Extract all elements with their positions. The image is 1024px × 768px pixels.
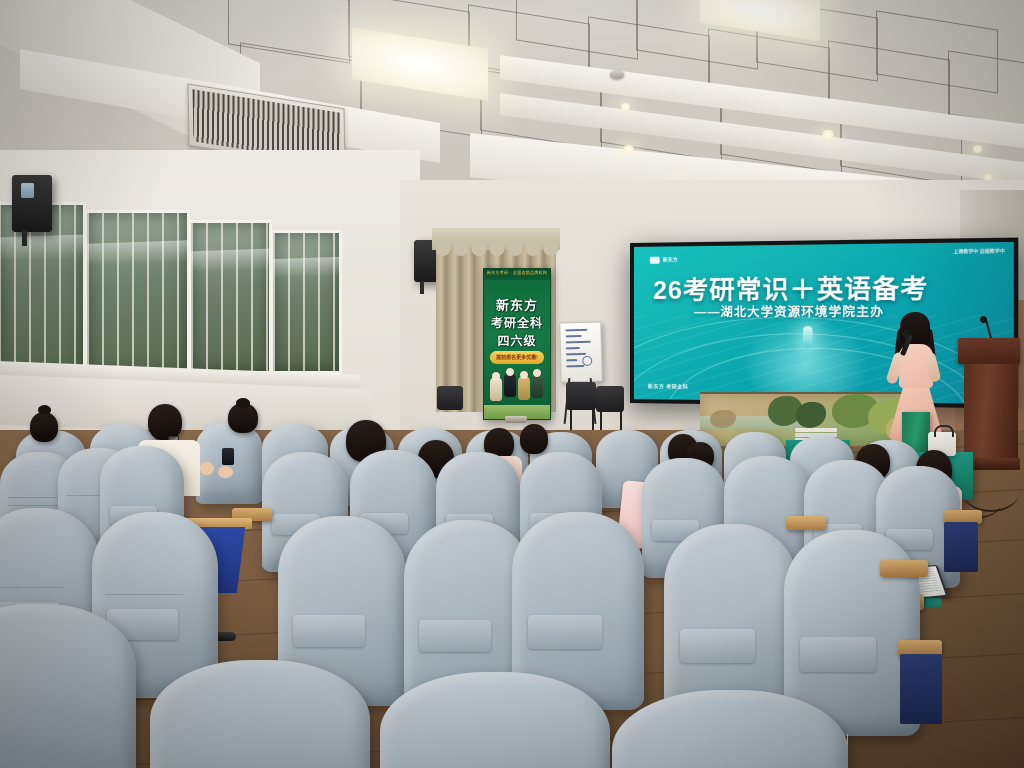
seat-backrest [612, 690, 848, 768]
screen-watermark-top-right: 上课教学中 远程教学中 [953, 248, 1004, 255]
seat-armrest [880, 560, 928, 577]
seat-pocket [528, 615, 602, 649]
window-reflection [273, 257, 339, 279]
window-reflection [87, 240, 187, 266]
seat-pocket [419, 620, 491, 653]
screen-line-pattern [634, 315, 1014, 404]
wall-speaker-left [12, 175, 52, 232]
seat-side-panel [900, 654, 942, 724]
audience-hand-2 [218, 466, 233, 478]
speaker-mount-bracket [22, 230, 27, 246]
black-chair-leg [600, 411, 602, 431]
black-chair-leg [620, 411, 622, 431]
screen-figure-graphic [803, 326, 812, 349]
banner-header-text: 新东方考研 · 全国连锁品牌机构 [484, 270, 550, 276]
audience-head-7 [520, 424, 548, 454]
audience-hair-bun [38, 405, 51, 415]
seat-crease [8, 497, 58, 498]
speaker-mount-bracket-2 [420, 281, 424, 294]
window-security-bars [273, 233, 339, 371]
handbag-handle [934, 425, 954, 437]
ceiling-smoke-detector [610, 70, 624, 79]
window-reflection [0, 234, 83, 261]
window-pane-4 [270, 230, 342, 374]
screen-logo-mark [650, 257, 660, 264]
audience-hair-bun-2 [236, 398, 250, 408]
audience-head-1 [30, 412, 58, 442]
seat-r4-c3[interactable] [380, 672, 610, 768]
seat-side-panel [944, 522, 978, 572]
seat-r4-c2[interactable] [150, 660, 370, 768]
banner-mascot-figures [488, 369, 546, 403]
screen-logo: 新东方 [650, 256, 678, 263]
banner-line-1: 新东方 [484, 295, 550, 314]
seat-r4-c4[interactable] [612, 690, 848, 768]
flipchart-whiteboard [559, 321, 603, 382]
black-chair-1 [566, 382, 596, 410]
seat-backrest [380, 672, 610, 768]
downlight-5 [621, 145, 636, 154]
banner-stand [505, 416, 527, 423]
screen-watermark-bottom-left: 新东方 考研全科 [648, 383, 688, 390]
black-chair-leg [592, 409, 594, 431]
window-reflection [191, 248, 269, 271]
screen-logo-text: 新东方 [663, 256, 678, 263]
projection-screen[interactable]: 新东方 上课教学中 远程教学中 26考研常识＋英语备考 ——湖北大学资源环境学院… [634, 242, 1014, 404]
seat-crease [105, 594, 183, 595]
window-security-bars [87, 213, 187, 373]
podium-body [964, 364, 1018, 460]
downlight-7 [619, 103, 632, 111]
window-pane-3 [188, 220, 272, 374]
black-chair-3 [437, 386, 463, 410]
banner-line-3: 四六级 [484, 332, 550, 349]
speaker-badge [21, 183, 35, 198]
seat-crease [8, 505, 58, 506]
gooseneck-mic-head [980, 316, 987, 323]
audience-hand [200, 462, 214, 475]
banner-line-2: 考研全科 [484, 314, 550, 331]
rollup-banner: 新东方考研 · 全国连锁品牌机构 新东方 考研全科 四六级 提前报名更多优惠! [483, 268, 551, 420]
audience-phone [222, 448, 234, 465]
seat-pocket [680, 629, 755, 663]
seat-crease [0, 587, 65, 588]
curtain-valance [432, 228, 560, 250]
seat-backrest [150, 660, 370, 768]
black-chair-2 [596, 386, 624, 412]
seat-pocket [800, 637, 876, 672]
audience-head-2 [148, 404, 182, 440]
downlight-10 [971, 145, 984, 153]
black-chair-leg [570, 409, 572, 431]
window-bank [0, 196, 352, 371]
downlight-6 [820, 130, 836, 139]
seat-pocket [293, 615, 365, 647]
seat-backrest [0, 604, 136, 768]
podium-top [958, 338, 1020, 364]
microphone-head [902, 330, 910, 338]
window-security-bars [191, 223, 269, 371]
banner-promo-badge: 提前报名更多优惠! [490, 351, 544, 364]
lecture-hall-photo: 新东方考研 · 全国连锁品牌机构 新东方 考研全科 四六级 提前报名更多优惠! [0, 0, 1024, 768]
window-pane-2 [84, 210, 190, 376]
seat-r4-c1[interactable] [0, 604, 136, 768]
